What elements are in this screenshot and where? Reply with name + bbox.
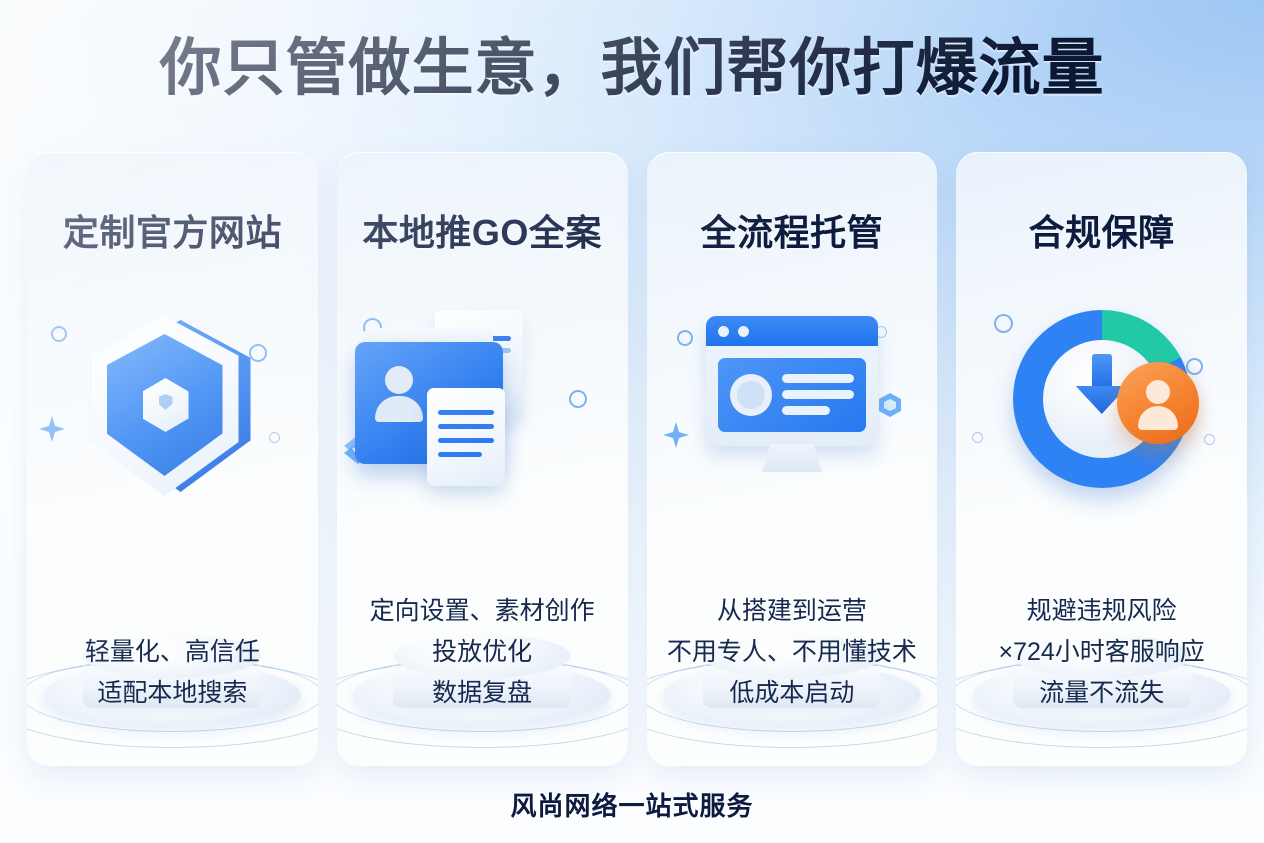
shield-badge-icon: [83, 312, 263, 512]
card-description-line: 轻量化、高信任: [27, 632, 318, 673]
card-description: 轻量化、高信任 适配本地搜索: [27, 632, 318, 714]
decorative-circle-icon: [994, 314, 1013, 333]
feature-card-local-promo[interactable]: 本地推GO全案: [337, 152, 628, 766]
card-description-line: ×724小时客服响应: [956, 632, 1247, 673]
footer-slogan: 风尚网络一站式服务: [0, 786, 1264, 823]
feature-card-compliance[interactable]: 合规保障: [956, 152, 1247, 766]
card-description-line: 数据复盘: [337, 673, 628, 714]
card-description: 规避违规风险 ×724小时客服响应 流量不流失: [956, 591, 1247, 714]
card-illustration-monitor: [647, 292, 938, 577]
card-illustration-ring-chart: [956, 292, 1247, 577]
decorative-circle-icon: [51, 326, 67, 342]
card-title: 全流程托管: [647, 204, 938, 256]
decorative-circle-icon: [269, 432, 280, 443]
card-title: 本地推GO全案: [337, 204, 628, 256]
sparkle-icon: [661, 420, 691, 450]
card-description-line: 低成本启动: [647, 673, 938, 714]
decorative-circle-icon: [972, 432, 983, 443]
page-title: 你只管做生意，我们帮你打爆流量: [0, 33, 1264, 105]
decorative-circle-icon: [677, 330, 693, 346]
card-description: 从搭建到运营 不用专人、不用懂技术 低成本启动: [647, 591, 938, 714]
poster-canvas: 你只管做生意，我们帮你打爆流量 定制官方网站: [0, 0, 1264, 843]
feature-card-full-hosting[interactable]: 全流程托管: [647, 152, 938, 766]
user-avatar-badge-icon: [1117, 362, 1199, 444]
decorative-circle-icon: [1204, 434, 1215, 445]
card-illustration-shield: [27, 292, 318, 577]
card-title: 定制官方网站: [27, 204, 318, 256]
card-description-line: 定向设置、素材创作: [337, 591, 628, 632]
card-description: 定向设置、素材创作 投放优化 数据复盘: [337, 591, 628, 714]
decorative-circle-icon: [569, 390, 587, 408]
feature-card-list: 定制官方网站 轻量化、高信任: [27, 152, 1247, 766]
sparkle-icon: [37, 414, 67, 444]
card-description-line: 规避违规风险: [956, 591, 1247, 632]
monitor-window-icon: [706, 316, 878, 476]
feature-card-custom-website[interactable]: 定制官方网站 轻量化、高信任: [27, 152, 318, 766]
card-description-line: 不用专人、不用懂技术: [647, 632, 938, 673]
card-description-line: 投放优化: [337, 632, 628, 673]
card-title: 合规保障: [956, 204, 1247, 256]
card-illustration-id-card: [337, 292, 628, 577]
card-description-line: 从搭建到运营: [647, 591, 938, 632]
hexagon-chip-icon: [877, 392, 903, 418]
ring-chart-download-user-icon: [1013, 310, 1191, 488]
card-description-line: 适配本地搜索: [27, 673, 318, 714]
document-card-front-icon: [427, 388, 505, 486]
card-description-line: 流量不流失: [956, 673, 1247, 714]
